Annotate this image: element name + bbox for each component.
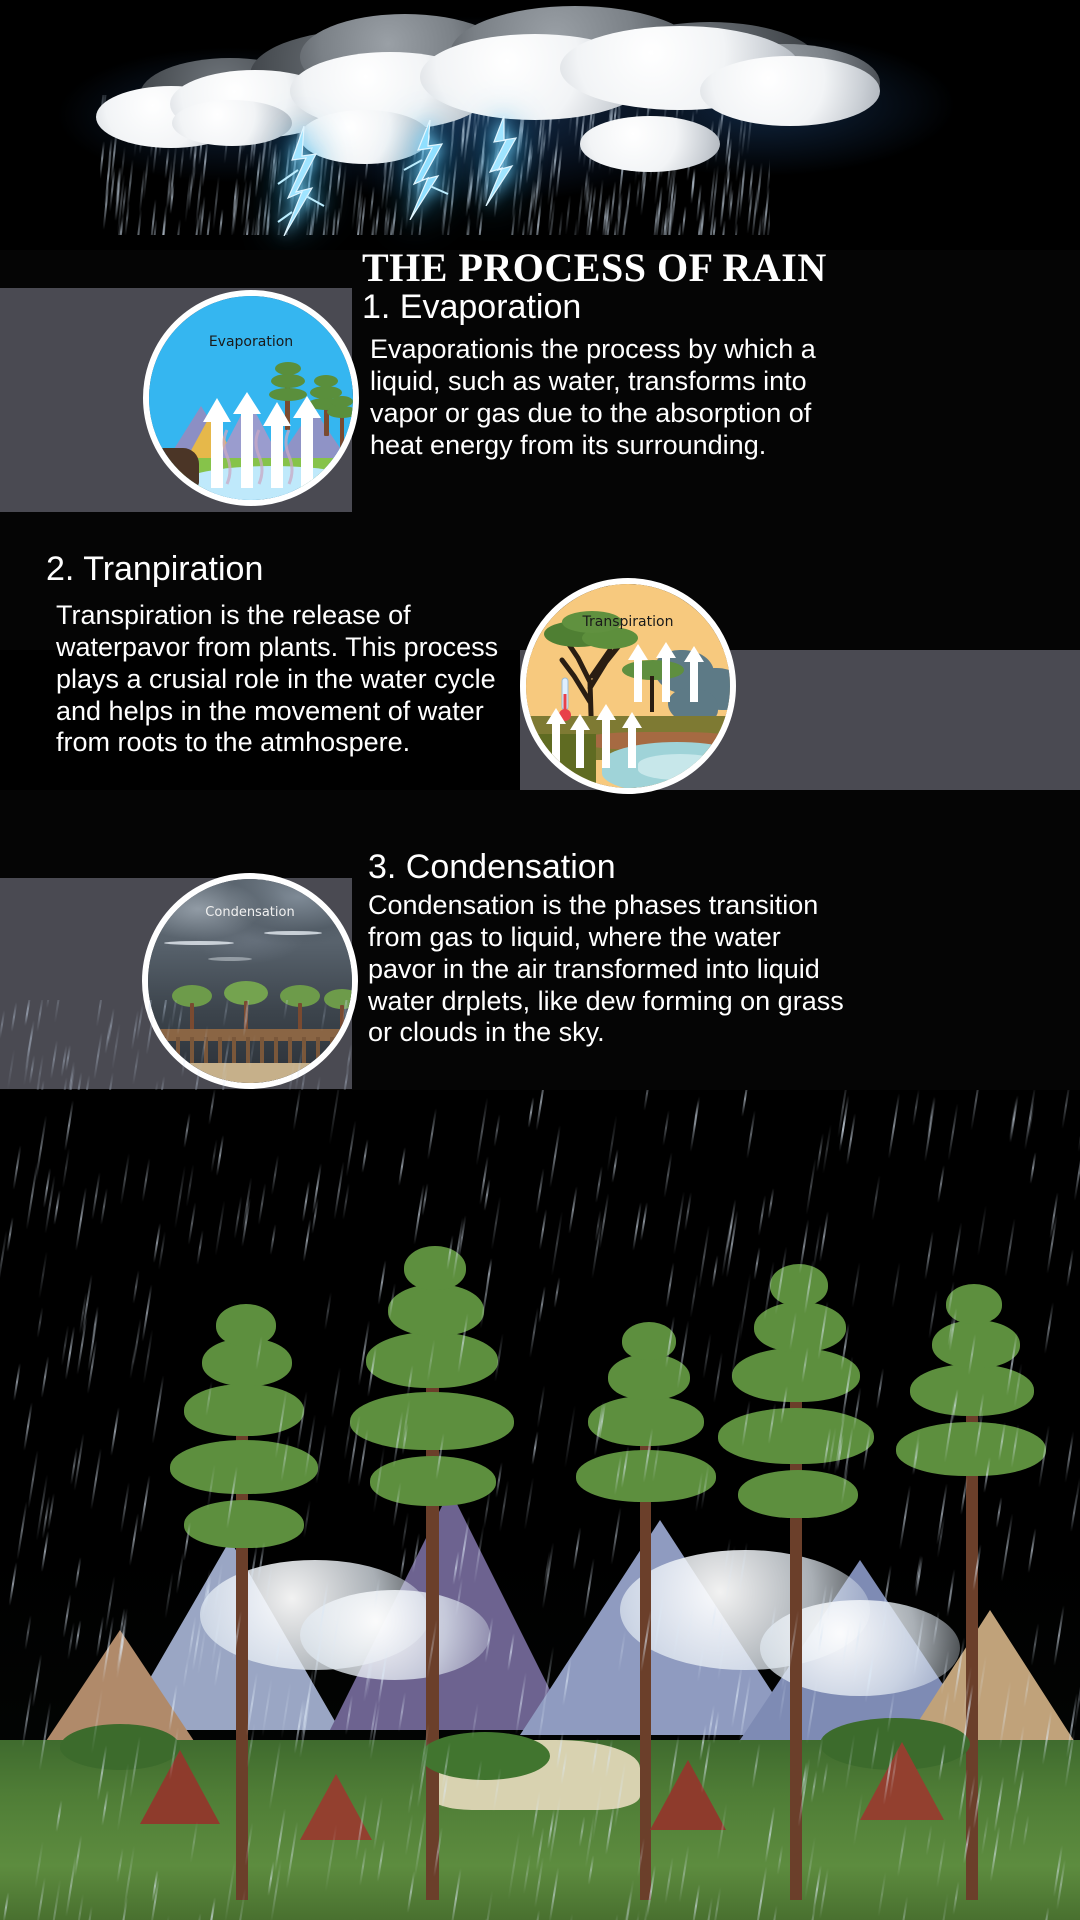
tree-foliage [275, 362, 301, 375]
lightning-bolt-icon [262, 126, 352, 236]
stump-shape [153, 448, 199, 488]
section-1-body: Evaporationis the process by which a liq… [370, 334, 830, 461]
section-2-heading: 2. Tranpiration [46, 550, 263, 589]
cloud-white [580, 116, 720, 172]
transpiration-arrows-upper [628, 642, 736, 702]
forest-rain-overlay [0, 1090, 1080, 1920]
infographic-canvas: Evaporation [0, 0, 1080, 1920]
condensation-circle-label: Condensation [148, 905, 352, 920]
cloud-streak [264, 931, 322, 935]
evaporation-circle-label: Evaporation [149, 334, 353, 350]
storm-cloud-mass [142, 873, 358, 993]
section-3-body: Condensation is the phases transition fr… [368, 890, 848, 1049]
rainy-forest-illustration [0, 1090, 1080, 1920]
transpiration-circle-label: Transpiration [526, 614, 730, 630]
lightning-bolt-icon [470, 116, 540, 206]
transpiration-circle-image: Transpiration [520, 578, 736, 794]
cloud-streak [208, 957, 252, 961]
transpiration-arrows [544, 702, 724, 768]
cloud-white [700, 56, 880, 126]
page-title: THE PROCESS OF RAIN [362, 244, 827, 291]
section-2-body: Transpiration is the release of waterpav… [56, 600, 526, 759]
section-1-heading: 1. Evaporation [362, 288, 581, 327]
evaporation-arrows [203, 392, 333, 488]
evaporation-circle-image: Evaporation [143, 290, 359, 506]
tree-foliage [314, 375, 338, 387]
lightning-bolt-icon [392, 120, 472, 220]
section-3-heading: 3. Condensation [368, 848, 616, 887]
cloud-streak [164, 941, 234, 945]
storm-clouds-illustration [0, 0, 1080, 250]
left-rain-overlay [0, 1000, 352, 1092]
tree-foliage [271, 374, 305, 388]
tree-foliage [331, 396, 353, 407]
